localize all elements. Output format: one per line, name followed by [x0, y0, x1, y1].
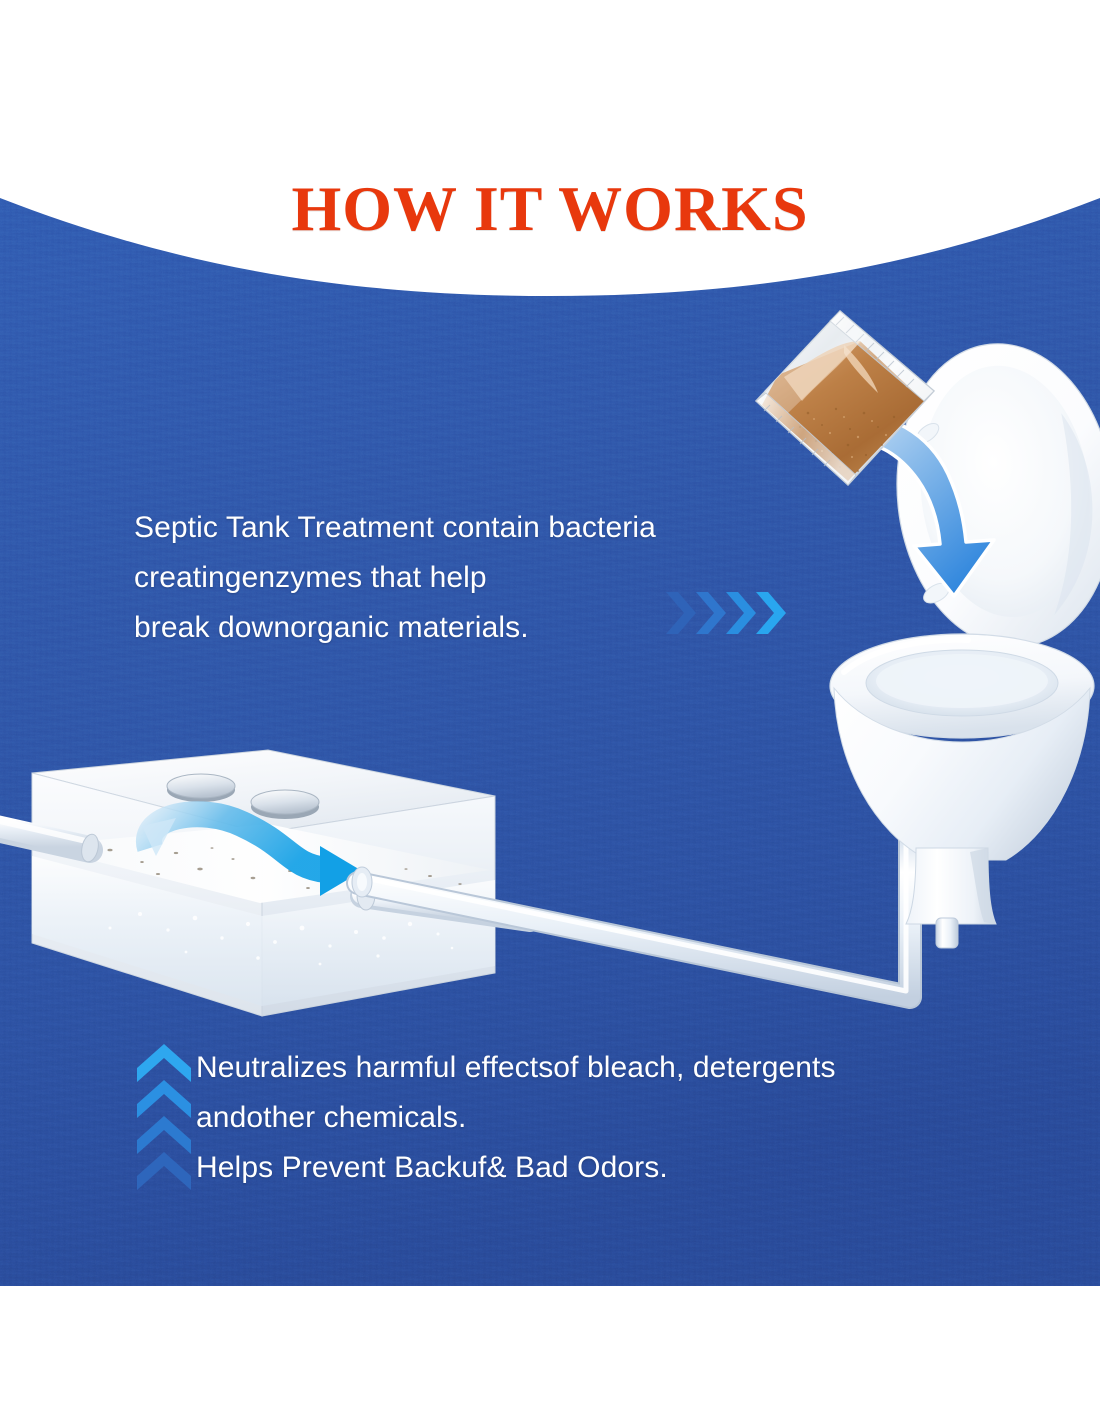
toilet-outlet-pipe	[936, 918, 958, 948]
pipe-collar	[352, 867, 372, 897]
chevron-right-icon-4	[756, 592, 786, 634]
chevron-up-icon-4	[137, 1152, 191, 1190]
bottom-text-line-2: andother chemicals.	[196, 1093, 836, 1143]
chevron-right-icon-2	[696, 592, 726, 634]
page-title: HOW IT WORKS	[0, 172, 1100, 246]
top-text-line-3: break downorganic materials.	[134, 603, 656, 653]
top-text-line-2: creatingenzymes that help	[134, 553, 656, 603]
bottom-description-text: Neutralizes harmful effectsof bleach, de…	[196, 1043, 836, 1193]
chevron-up-icon-2	[137, 1080, 191, 1118]
tank-access-lid-2	[251, 790, 319, 819]
chevron-up-group	[133, 1042, 195, 1190]
powder-packet-illustration	[748, 305, 948, 500]
infographic-canvas: HOW IT WORKS	[0, 0, 1100, 1422]
top-description-text: Septic Tank Treatment contain bacteria c…	[134, 503, 656, 653]
chevron-right-group	[666, 588, 794, 638]
chevron-right-icon-1	[666, 592, 696, 634]
chevron-up-icon-1	[137, 1044, 191, 1082]
tank-access-lid-1	[167, 774, 235, 802]
bottom-text-line-3: Helps Prevent Backuf& Bad Odors.	[196, 1143, 836, 1193]
bottom-text-line-1: Neutralizes harmful effectsof bleach, de…	[196, 1043, 836, 1093]
chevron-right-icon-3	[726, 592, 756, 634]
top-text-line-1: Septic Tank Treatment contain bacteria	[134, 503, 656, 553]
chevron-up-icon-3	[137, 1116, 191, 1154]
